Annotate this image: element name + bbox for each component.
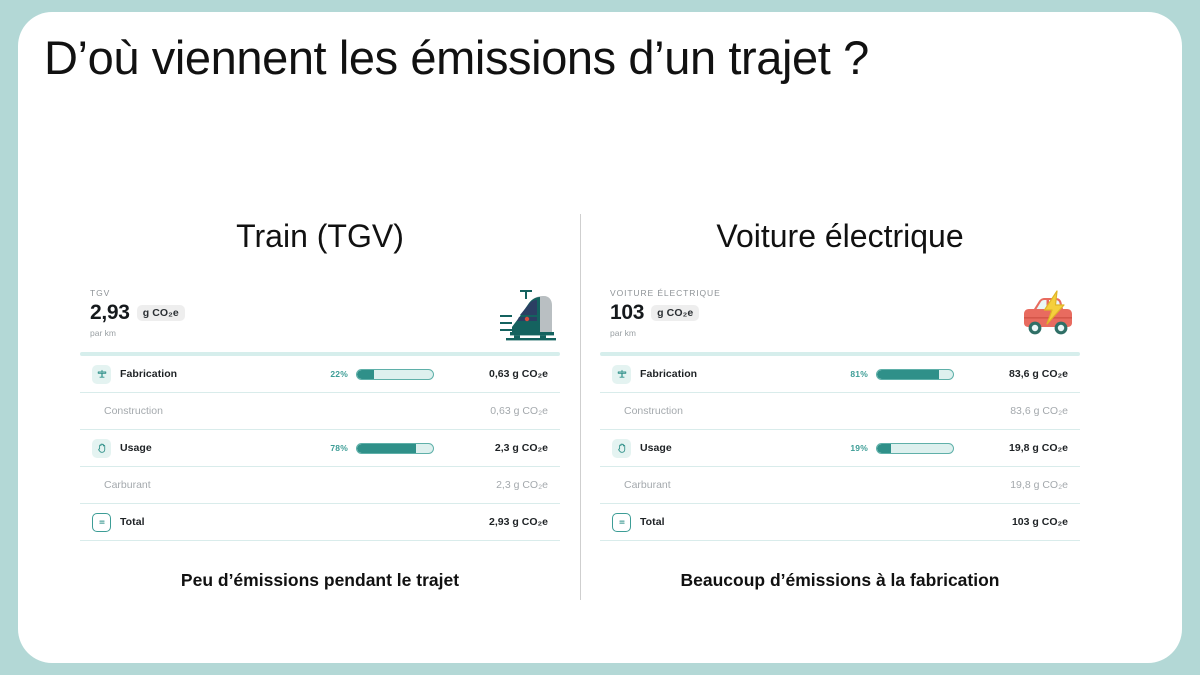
row-label-cell: Total [600,513,815,532]
column-divider [580,214,581,600]
row-progress-bar [356,443,434,454]
row-label-cell: Construction [80,405,295,417]
table-row[interactable]: Fabrication 81% 83,6 g CO₂e [600,356,1080,393]
tgv-train-icon [496,287,558,343]
table-row[interactable]: Fabrication 22% 0,63 g CO₂e [80,356,560,393]
row-percent: 81% [850,369,868,379]
row-value: 2,3 g CO₂e [448,442,560,454]
row-label: Fabrication [120,368,177,380]
table-row[interactable]: Construction 83,6 g CO₂e [600,393,1080,430]
row-progress-bar [876,369,954,380]
table-row[interactable]: Carburant 19,8 g CO₂e [600,467,1080,504]
row-progress-bar [356,369,434,380]
row-label-cell: Usage [80,439,295,458]
row-value: 19,8 g CO₂e [968,479,1080,491]
row-percent: 22% [330,369,348,379]
row-value: 83,6 g CO₂e [968,368,1080,380]
factory-icon [612,365,631,384]
row-percent: 19% [850,443,868,453]
row-label: Construction [92,405,163,417]
row-progress-bar [876,443,954,454]
row-label: Total [120,516,145,528]
column-title-electric-car: Voiture électrique [600,218,1080,255]
row-bar-cell: 19% [815,443,968,454]
row-label: Carburant [612,479,671,491]
factory-icon [92,365,111,384]
widget-kicker-electric-car: VOITURE ÉLECTRIQUE [610,288,1080,298]
table-row[interactable]: Construction 0,63 g CO₂e [80,393,560,430]
row-label-cell: Construction [600,405,815,417]
row-label-cell: Usage [600,439,815,458]
table-row[interactable]: Usage 19% 19,8 g CO₂e [600,430,1080,467]
row-value: 2,93 g CO₂e [448,516,560,528]
row-value: 19,8 g CO₂e [968,442,1080,454]
page-title: D’où viennent les émissions d’un trajet … [44,30,869,85]
widget-kicker-train: TGV [90,288,560,298]
row-label: Fabrication [640,368,697,380]
widget-value-electric-car: 103 [610,301,644,325]
widget-header-electric-car: VOITURE ÉLECTRIQUE 103 g CO₂e par km [610,288,1080,346]
row-label-cell: Carburant [600,479,815,491]
table-row-total[interactable]: Total 2,93 g CO₂e [80,504,560,541]
row-label-cell: Fabrication [600,365,815,384]
row-bar-cell: 81% [815,369,968,380]
emissions-table-electric-car: Fabrication 81% 83,6 g CO₂e Construction… [600,352,1080,541]
row-value: 0,63 g CO₂e [448,368,560,380]
row-percent: 78% [330,443,348,453]
row-bar-cell: 22% [295,369,448,380]
row-value: 0,63 g CO₂e [448,405,560,417]
row-label-cell: Fabrication [80,365,295,384]
row-value: 83,6 g CO₂e [968,405,1080,417]
row-label: Total [640,516,665,528]
row-label-cell: Total [80,513,295,532]
row-value: 2,3 g CO₂e [448,479,560,491]
row-label: Usage [640,442,672,454]
column-caption-train: Peu d’émissions pendant le trajet [80,570,560,591]
row-value: 103 g CO₂e [968,516,1080,528]
column-title-train: Train (TGV) [80,218,560,255]
row-bar-cell: 78% [295,443,448,454]
row-label: Usage [120,442,152,454]
table-row-total[interactable]: Total 103 g CO₂e [600,504,1080,541]
widget-unit-badge-train: g CO₂e [137,305,185,322]
hand-icon [612,439,631,458]
table-row[interactable]: Carburant 2,3 g CO₂e [80,467,560,504]
hand-icon [92,439,111,458]
emissions-table-train: Fabrication 22% 0,63 g CO₂e Construction… [80,352,560,541]
row-label: Carburant [92,479,151,491]
equals-icon [612,513,631,532]
row-label-cell: Carburant [80,479,295,491]
widget-subtitle-train: par km [90,328,560,338]
row-label: Construction [612,405,683,417]
equals-icon [92,513,111,532]
widget-header-train: TGV 2,93 g CO₂e par km [90,288,560,346]
electric-car-icon [1016,287,1078,343]
widget-unit-badge-electric-car: g CO₂e [651,305,699,322]
widget-subtitle-electric-car: par km [610,328,1080,338]
widget-value-train: 2,93 [90,301,130,325]
column-caption-electric-car: Beaucoup d’émissions à la fabrication [600,570,1080,591]
table-row[interactable]: Usage 78% 2,3 g CO₂e [80,430,560,467]
